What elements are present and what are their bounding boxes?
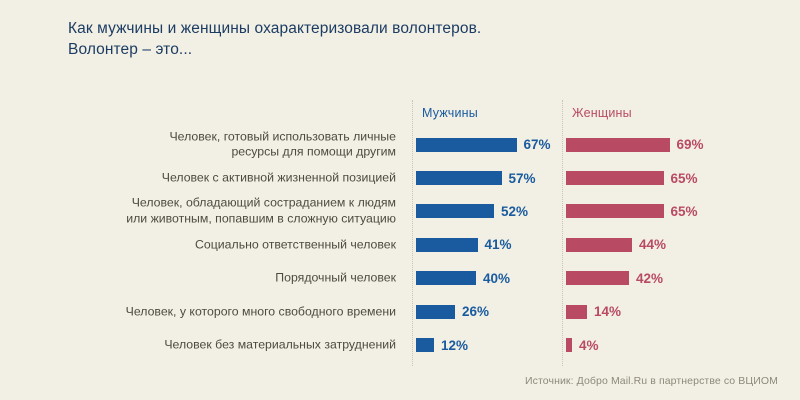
bar-women [566,238,632,252]
bar-value-men: 26% [462,304,489,319]
bar-group-men: 26% [416,305,489,319]
bar-value-women: 14% [594,304,621,319]
bar-women [566,271,629,285]
page-title: Как мужчины и женщины охарактеризовали в… [68,18,708,60]
category-label: Порядочный человек [56,271,396,287]
bar-value-women: 44% [639,237,666,252]
page-title-line-1: Как мужчины и женщины охарактеризовали в… [68,18,708,39]
chart-rows: Человек, готовый использовать личные рес… [0,128,800,362]
chart-row: Человек, готовый использовать личные рес… [0,128,800,161]
chart-row: Человек с активной жизненной позицией57%… [0,161,800,194]
bar-group-women: 65% [566,204,698,218]
bar-men [416,171,502,185]
category-label: Человек без материальных затруднений [56,337,396,353]
category-label: Человек с активной жизненной позицией [56,170,396,186]
bar-group-men: 57% [416,171,536,185]
category-label: Социально ответственный человек [56,237,396,253]
bar-group-men: 40% [416,271,510,285]
chart-row: Человек, у которого много свободного вре… [0,295,800,328]
bar-group-men: 41% [416,238,512,252]
bar-value-men: 12% [441,338,468,353]
bar-group-women: 14% [566,305,621,319]
bar-women [566,338,572,352]
bar-value-men: 67% [524,137,551,152]
source-note: Источник: Добро Mail.Ru в партнерстве со… [525,375,778,387]
bar-value-men: 41% [485,237,512,252]
page-title-line-2: Волонтер – это... [68,39,708,60]
bar-group-women: 4% [566,338,599,352]
category-label: Человек, готовый использовать личные рес… [56,129,396,160]
chart-row: Человек, обладающий состраданием к людям… [0,195,800,228]
chart-row: Человек без материальных затруднений12%4… [0,328,800,361]
bar-group-women: 42% [566,271,663,285]
bar-value-women: 65% [671,171,698,186]
bar-group-men: 12% [416,338,468,352]
bar-men [416,305,455,319]
bar-value-women: 65% [671,204,698,219]
bar-value-men: 57% [509,171,536,186]
category-label: Человек, у которого много свободного вре… [56,304,396,320]
chart-row: Порядочный человек40%42% [0,262,800,295]
bar-value-women: 69% [677,137,704,152]
bar-men [416,238,478,252]
bar-value-women: 42% [636,271,663,286]
bar-women [566,171,664,185]
bar-men [416,338,434,352]
bar-men [416,204,494,218]
bar-women [566,305,587,319]
bar-value-men: 40% [483,271,510,286]
chart-row: Социально ответственный человек41%44% [0,228,800,261]
bar-men [416,138,517,152]
bar-women [566,138,670,152]
bar-group-men: 52% [416,204,528,218]
column-header-women: Женщины [572,106,632,120]
bar-group-women: 44% [566,238,666,252]
bar-group-women: 65% [566,171,698,185]
bar-value-men: 52% [501,204,528,219]
bar-group-men: 67% [416,138,551,152]
category-label: Человек, обладающий состраданием к людям… [56,196,396,227]
column-header-men: Мужчины [422,106,478,120]
chart-container: Как мужчины и женщины охарактеризовали в… [0,0,800,400]
bar-men [416,271,476,285]
bar-women [566,204,664,218]
bar-value-women: 4% [579,338,599,353]
bar-group-women: 69% [566,138,704,152]
